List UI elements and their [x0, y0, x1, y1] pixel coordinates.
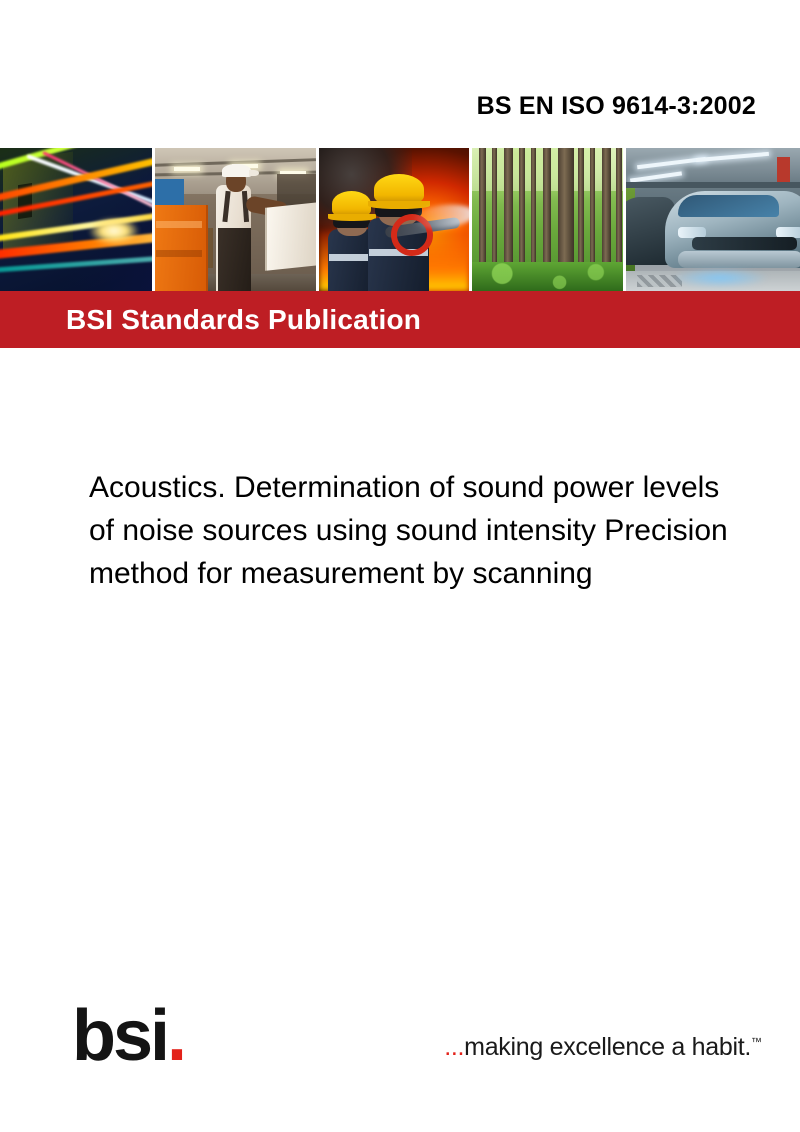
traffic-trails-backdrop	[0, 148, 152, 291]
tree-trunk	[504, 148, 513, 271]
cover-photo-strip	[0, 148, 800, 291]
photo-panel-forest	[472, 148, 623, 291]
car-bumper	[678, 251, 800, 268]
banner-title-text: BSI Standards Publication	[66, 304, 421, 336]
bsi-tagline: ...making excellence a habit.™	[444, 1033, 762, 1062]
tagline-text: making excellence a habit	[464, 1033, 744, 1061]
headlight-glow	[88, 217, 140, 245]
orange-crates	[155, 205, 208, 291]
document-cover-page: BS EN ISO 9614-3:2002	[0, 0, 800, 1132]
white-carton	[265, 202, 315, 271]
car-grille	[692, 237, 796, 250]
photo-panel-warehouse-worker	[155, 148, 316, 291]
overhead-conveyor-rail	[626, 182, 800, 188]
document-title: Acoustics. Determination of sound power …	[89, 466, 800, 595]
bsi-logo-wordmark: bsi	[72, 996, 167, 1076]
forest-undergrowth	[472, 262, 623, 291]
tree-trunk	[519, 148, 525, 271]
car-windscreen	[678, 195, 779, 216]
photo-panel-car-assembly-line	[626, 148, 800, 291]
tree-trunk	[531, 148, 536, 271]
document-title-line-1: Acoustics. Determination of sound power …	[89, 466, 800, 509]
ceiling-light-1	[174, 167, 200, 171]
tagline-leading-dots: ...	[444, 1033, 464, 1061]
tree-trunk	[479, 148, 486, 271]
worker-apron	[218, 228, 252, 291]
trademark-icon: ™	[751, 1037, 762, 1049]
factory-backdrop	[626, 148, 800, 291]
photo-panel-traffic-light-trails	[0, 148, 152, 291]
tree-trunk-foreground	[558, 148, 574, 271]
factory-red-panel	[777, 157, 789, 183]
standard-reference-number: BS EN ISO 9614-3:2002	[477, 92, 756, 121]
firefighter-front-helmet	[374, 174, 424, 204]
worker-cap	[222, 164, 251, 177]
tagline-period: .	[744, 1033, 751, 1061]
tree-trunk	[616, 148, 622, 271]
warehouse-backdrop	[155, 148, 316, 291]
bsi-standards-banner: BSI Standards Publication	[0, 291, 800, 348]
bsi-logo-red-dot: .	[167, 996, 184, 1076]
under-car-floor-glow	[671, 268, 768, 288]
tree-trunk	[543, 148, 551, 271]
light-streak-teal	[0, 253, 152, 273]
document-title-line-3: method for measurement by scanning	[89, 552, 800, 595]
photo-panel-firefighters	[319, 148, 470, 291]
tree-trunk	[602, 148, 611, 271]
fire-backdrop	[319, 148, 470, 291]
document-title-line-2: of noise sources using sound intensity P…	[89, 509, 800, 552]
forest-backdrop	[472, 148, 623, 291]
bsi-logo: bsi.	[72, 1000, 184, 1072]
tree-trunk	[492, 148, 497, 271]
tree-trunk	[578, 148, 584, 271]
tree-trunk	[590, 148, 595, 271]
